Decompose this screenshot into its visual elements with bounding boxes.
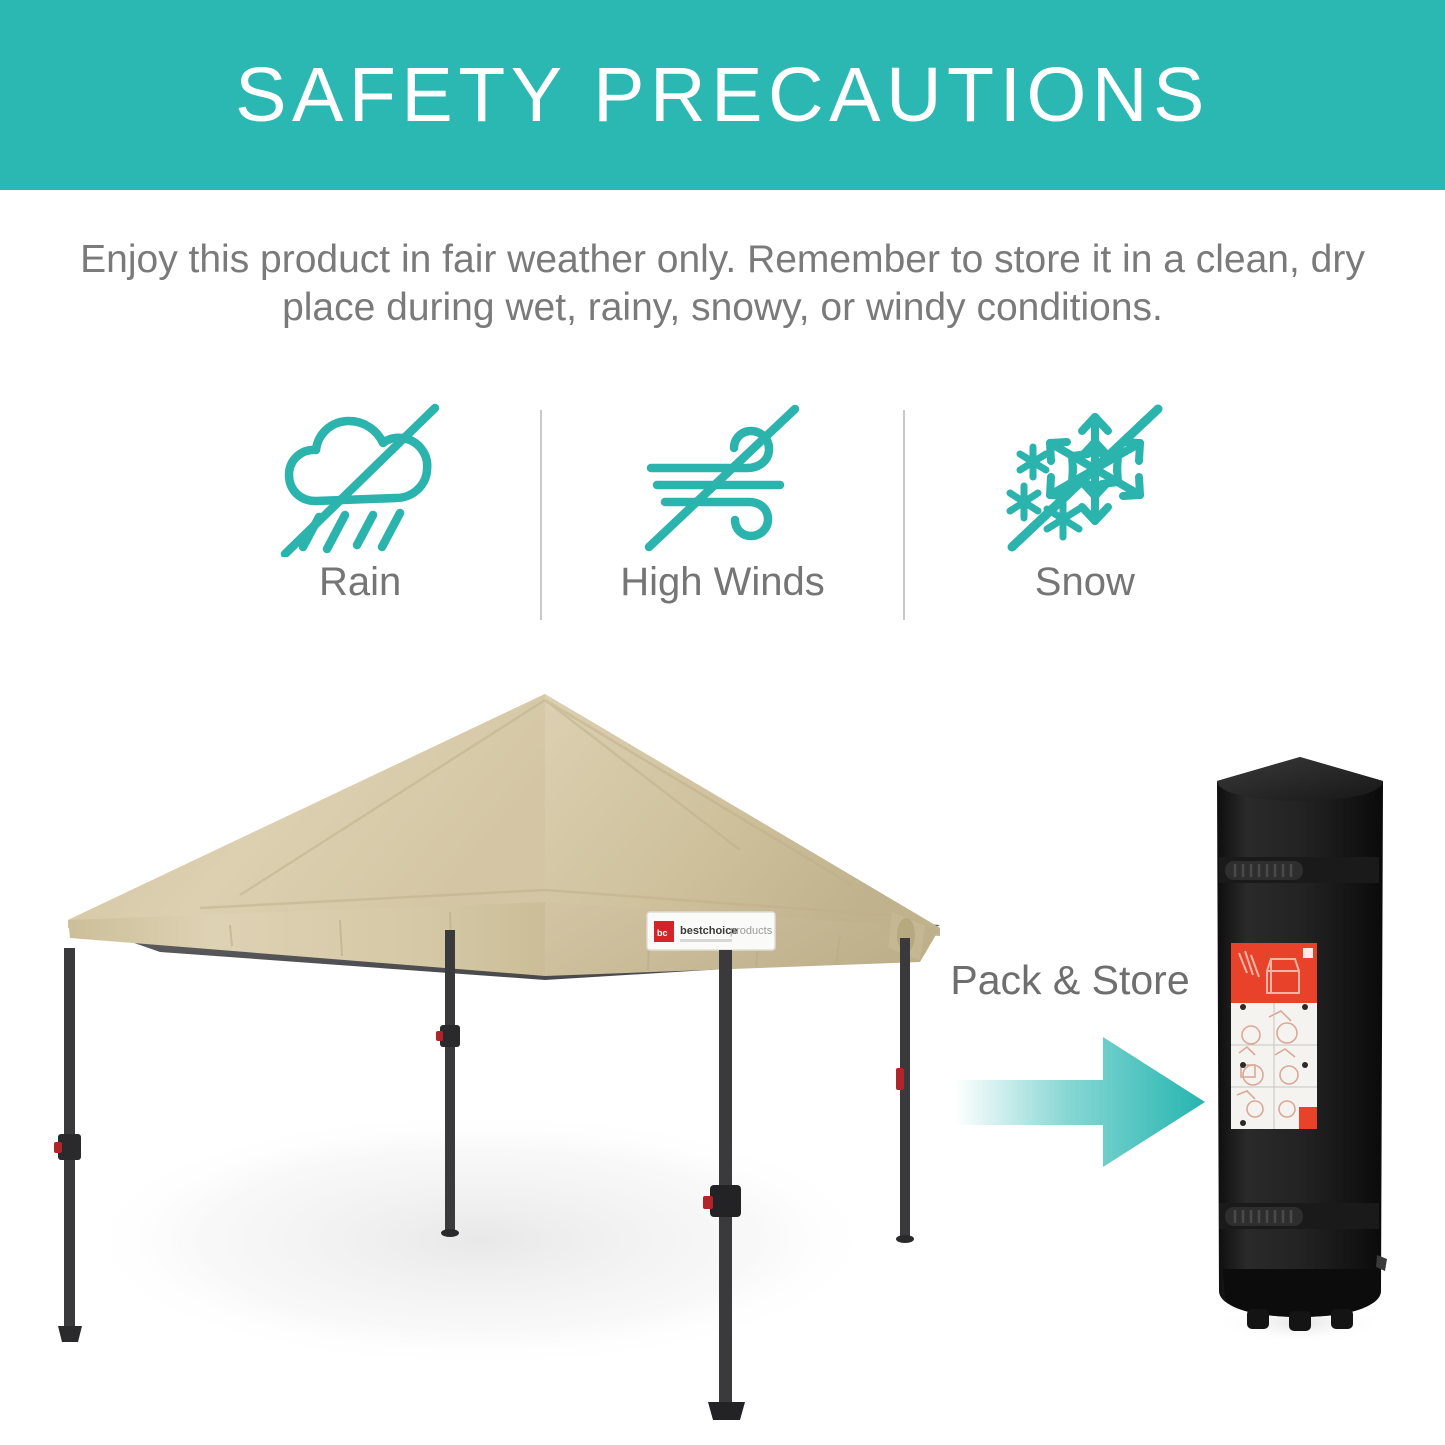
bag-product-label bbox=[1231, 943, 1317, 1129]
page-title: SAFETY PRECAUTIONS bbox=[0, 0, 1445, 190]
pack-and-store-label: Pack & Store bbox=[920, 960, 1220, 1001]
tent-leg-rear-right bbox=[896, 938, 914, 1243]
bag-top-cap bbox=[1217, 757, 1383, 801]
rolling-carry-bag bbox=[1195, 735, 1405, 1345]
snow-crossed-out-icon bbox=[1000, 392, 1170, 562]
weather-warning-row: Rain High Winds bbox=[180, 392, 1265, 642]
svg-text:bestchoice: bestchoice bbox=[680, 925, 737, 937]
canopy-brand-label: bc bestchoice products bbox=[647, 912, 775, 950]
subtitle-text: Enjoy this product in fair weather only.… bbox=[72, 236, 1373, 331]
weather-label-high-winds: High Winds bbox=[620, 562, 825, 602]
ground-shadow bbox=[80, 1110, 880, 1370]
weather-label-rain: Rain bbox=[319, 562, 401, 602]
rain-crossed-out-icon bbox=[275, 392, 445, 562]
bag-handle-top bbox=[1219, 857, 1379, 883]
safety-precautions-infographic: SAFETY PRECAUTIONS Enjoy this product in… bbox=[0, 0, 1445, 1445]
svg-text:bc: bc bbox=[657, 928, 668, 938]
pop-up-canopy-tent: bc bestchoice products bbox=[40, 680, 940, 1420]
weather-item-high-winds: High Winds bbox=[542, 392, 902, 642]
weather-item-snow: Snow bbox=[905, 392, 1265, 642]
tent-leg-front-left bbox=[54, 948, 82, 1342]
product-photo-area: bc bestchoice products bbox=[0, 660, 1445, 1445]
wind-crossed-out-icon bbox=[637, 392, 807, 562]
svg-text:products: products bbox=[730, 925, 773, 937]
weather-label-snow: Snow bbox=[1035, 562, 1135, 602]
pack-store-arrow-icon bbox=[955, 1035, 1205, 1170]
weather-item-rain: Rain bbox=[180, 392, 540, 642]
bag-handle-bottom bbox=[1219, 1203, 1379, 1229]
